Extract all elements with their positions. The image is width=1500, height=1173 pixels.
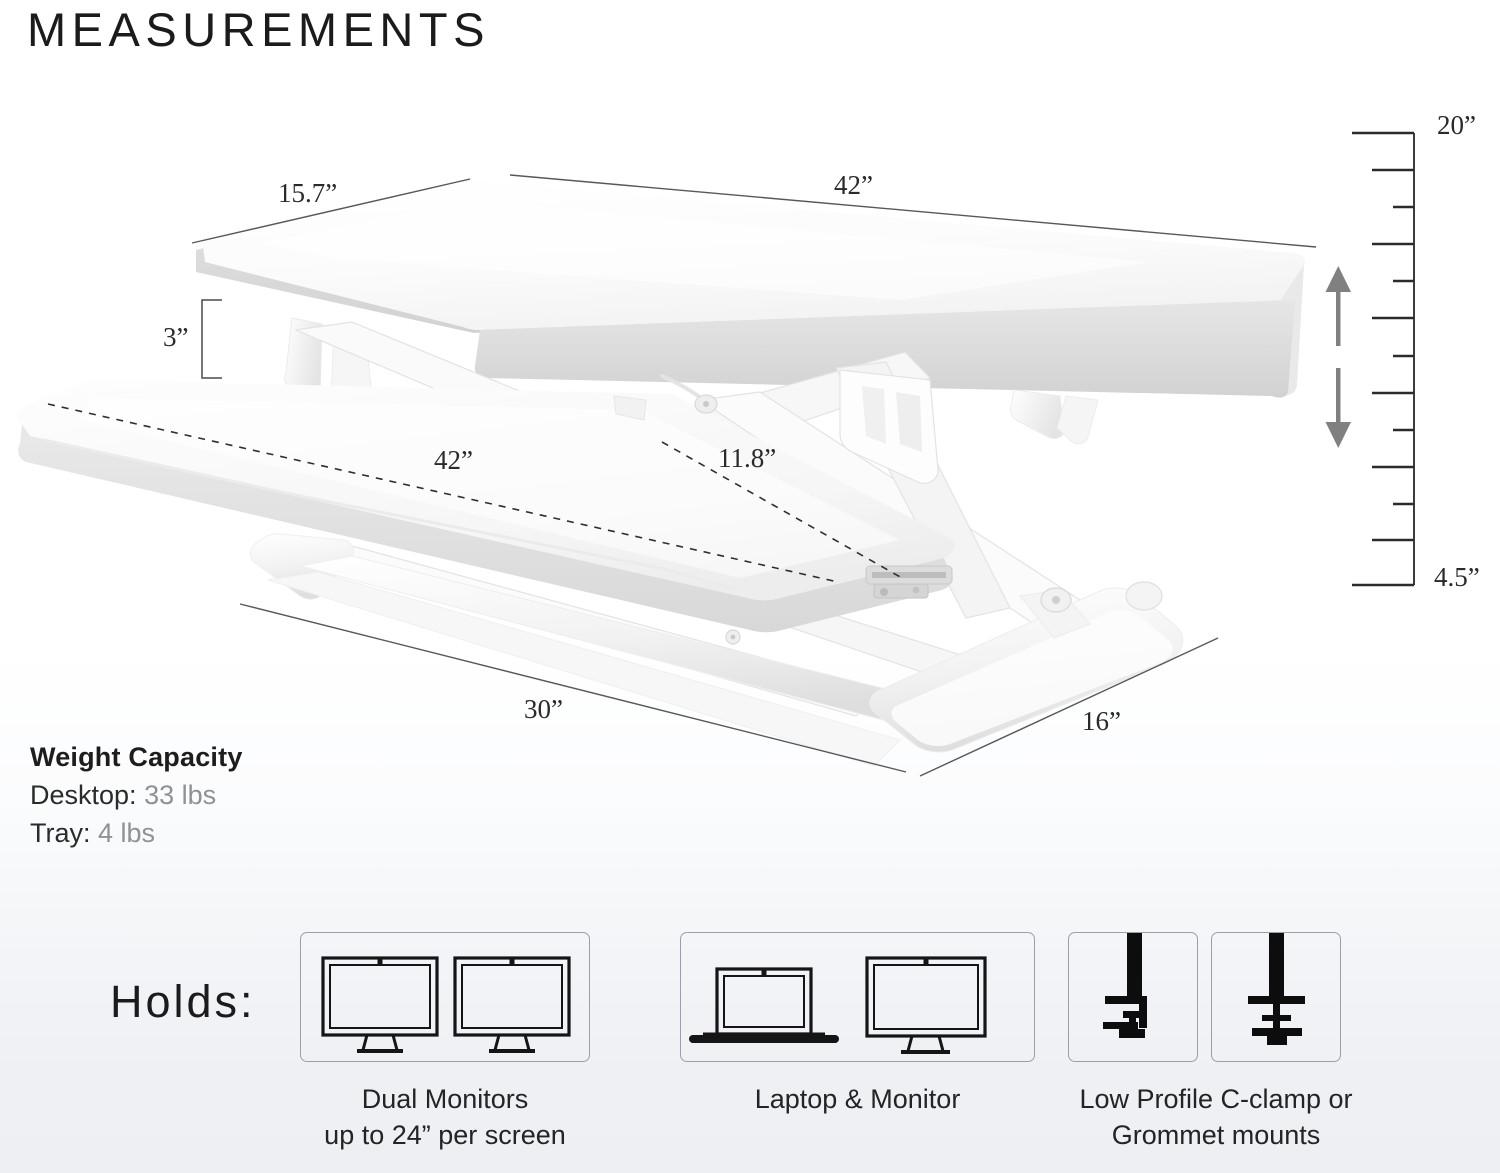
- dual-monitors-caption: Dual Monitors up to 24” per screen: [300, 1082, 590, 1153]
- weight-capacity-tray-row: Tray: 4 lbs: [30, 816, 243, 851]
- dual-monitors-panel: [300, 932, 590, 1062]
- mounts-caption: Low Profile C-clamp or Grommet mounts: [1068, 1082, 1364, 1153]
- grommet-panel: [1211, 932, 1341, 1062]
- dimension-label-base-width: 30”: [524, 694, 563, 725]
- measurements-infographic: MEASUREMENTS: [0, 0, 1500, 1173]
- dimension-label-height-max: 20”: [1437, 110, 1476, 141]
- dimension-label-width-top: 42”: [834, 170, 873, 201]
- holds-item-dual-monitors: Dual Monitors up to 24” per screen: [300, 932, 590, 1062]
- dimension-label-tray-depth: 11.8”: [718, 443, 776, 474]
- lift-hardware: [866, 566, 952, 598]
- weight-capacity-desktop-value: 33 lbs: [144, 780, 216, 810]
- caption-line-1: Dual Monitors: [300, 1082, 590, 1118]
- weight-capacity-tray-value: 4 lbs: [98, 818, 155, 848]
- caption-line-1: Laptop & Monitor: [680, 1082, 1035, 1118]
- caption-line-2: Grommet mounts: [1068, 1118, 1364, 1154]
- c-clamp-icon: [1069, 933, 1199, 1063]
- holds-label: Holds:: [110, 976, 256, 1028]
- weight-capacity-tray-label: Tray:: [30, 818, 91, 848]
- dimension-label-depth-top: 15.7”: [278, 178, 337, 209]
- height-down-arrow: [1326, 368, 1352, 448]
- dual-monitors-icon: [301, 933, 591, 1063]
- c-clamp-panel: [1068, 932, 1198, 1062]
- laptop-and-monitor-icon: [681, 933, 1036, 1063]
- caption-line-1: Low Profile C-clamp or: [1068, 1082, 1364, 1118]
- holds-item-laptop-monitor: Laptop & Monitor: [680, 932, 1035, 1062]
- clearance-bracket: [202, 300, 222, 378]
- height-up-arrow: [1326, 266, 1352, 346]
- dimension-label-base-depth: 16”: [1082, 706, 1121, 737]
- dimension-label-clearance: 3”: [163, 322, 188, 353]
- grommet-mount-icon: [1212, 933, 1342, 1063]
- laptop-monitor-panel: [680, 932, 1035, 1062]
- weight-capacity-title: Weight Capacity: [30, 740, 243, 775]
- dimension-label-tray-width: 42”: [434, 445, 473, 476]
- weight-capacity-desktop-label: Desktop:: [30, 780, 137, 810]
- holds-item-mounts: Low Profile C-clamp or Grommet mounts: [1068, 932, 1364, 1062]
- laptop-monitor-caption: Laptop & Monitor: [680, 1082, 1035, 1118]
- mount-panels: [1068, 932, 1364, 1062]
- height-ruler: [1326, 133, 1415, 585]
- dimension-label-height-min: 4.5”: [1434, 562, 1480, 593]
- weight-capacity-desktop-row: Desktop: 33 lbs: [30, 778, 243, 813]
- caption-line-2: up to 24” per screen: [300, 1118, 590, 1154]
- weight-capacity-block: Weight Capacity Desktop: 33 lbs Tray: 4 …: [30, 740, 243, 851]
